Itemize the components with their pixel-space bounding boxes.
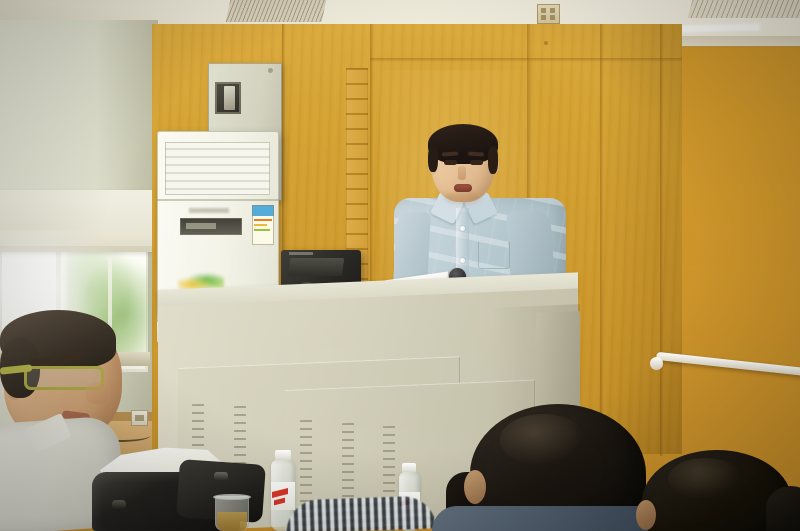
presenter-chin-shadow xyxy=(444,192,480,204)
conference-room-photo: 热烈欢 热烈欢 xyxy=(0,0,800,531)
monitor-back-panel xyxy=(288,258,345,276)
bag-clasp-icon xyxy=(214,472,228,480)
projector-screen-bar-knob xyxy=(650,357,663,370)
attendee-hair-highlight xyxy=(500,414,586,466)
cup-rim xyxy=(213,494,251,500)
energy-label-sticker xyxy=(252,205,274,245)
attendee-ear xyxy=(636,500,656,530)
shirt-button xyxy=(460,226,465,231)
air-conditioner-brand-mark xyxy=(189,208,229,213)
presenter-eye xyxy=(444,160,457,165)
presenter-nose xyxy=(458,166,466,180)
air-conditioner-seam xyxy=(157,199,279,201)
wall-screw xyxy=(544,41,548,45)
tea-liquid xyxy=(217,512,247,531)
bag-clasp-icon xyxy=(112,500,126,509)
shirt-pocket xyxy=(478,242,510,269)
attendee-hair-highlight xyxy=(668,458,742,500)
monitor-brand-mark xyxy=(289,252,313,255)
air-conditioner-display[interactable] xyxy=(180,218,242,235)
presenter-mouth xyxy=(454,184,472,192)
presenter-hair-side xyxy=(488,146,498,174)
ceiling-vent-icon xyxy=(226,0,327,22)
control-box-button[interactable] xyxy=(268,68,273,73)
shirt-button xyxy=(460,258,465,263)
projector-screen: 热烈欢 热烈欢 xyxy=(666,0,800,412)
attendee-ear xyxy=(464,470,486,504)
presenter-eye xyxy=(470,160,483,165)
attendee-nose xyxy=(86,382,108,404)
attendee-checkered-shirt xyxy=(285,495,436,531)
presenter-hair-side xyxy=(428,146,438,172)
light-switch-plate[interactable] xyxy=(537,4,560,24)
control-box-window xyxy=(215,82,241,114)
air-conditioner-grille xyxy=(165,142,270,195)
